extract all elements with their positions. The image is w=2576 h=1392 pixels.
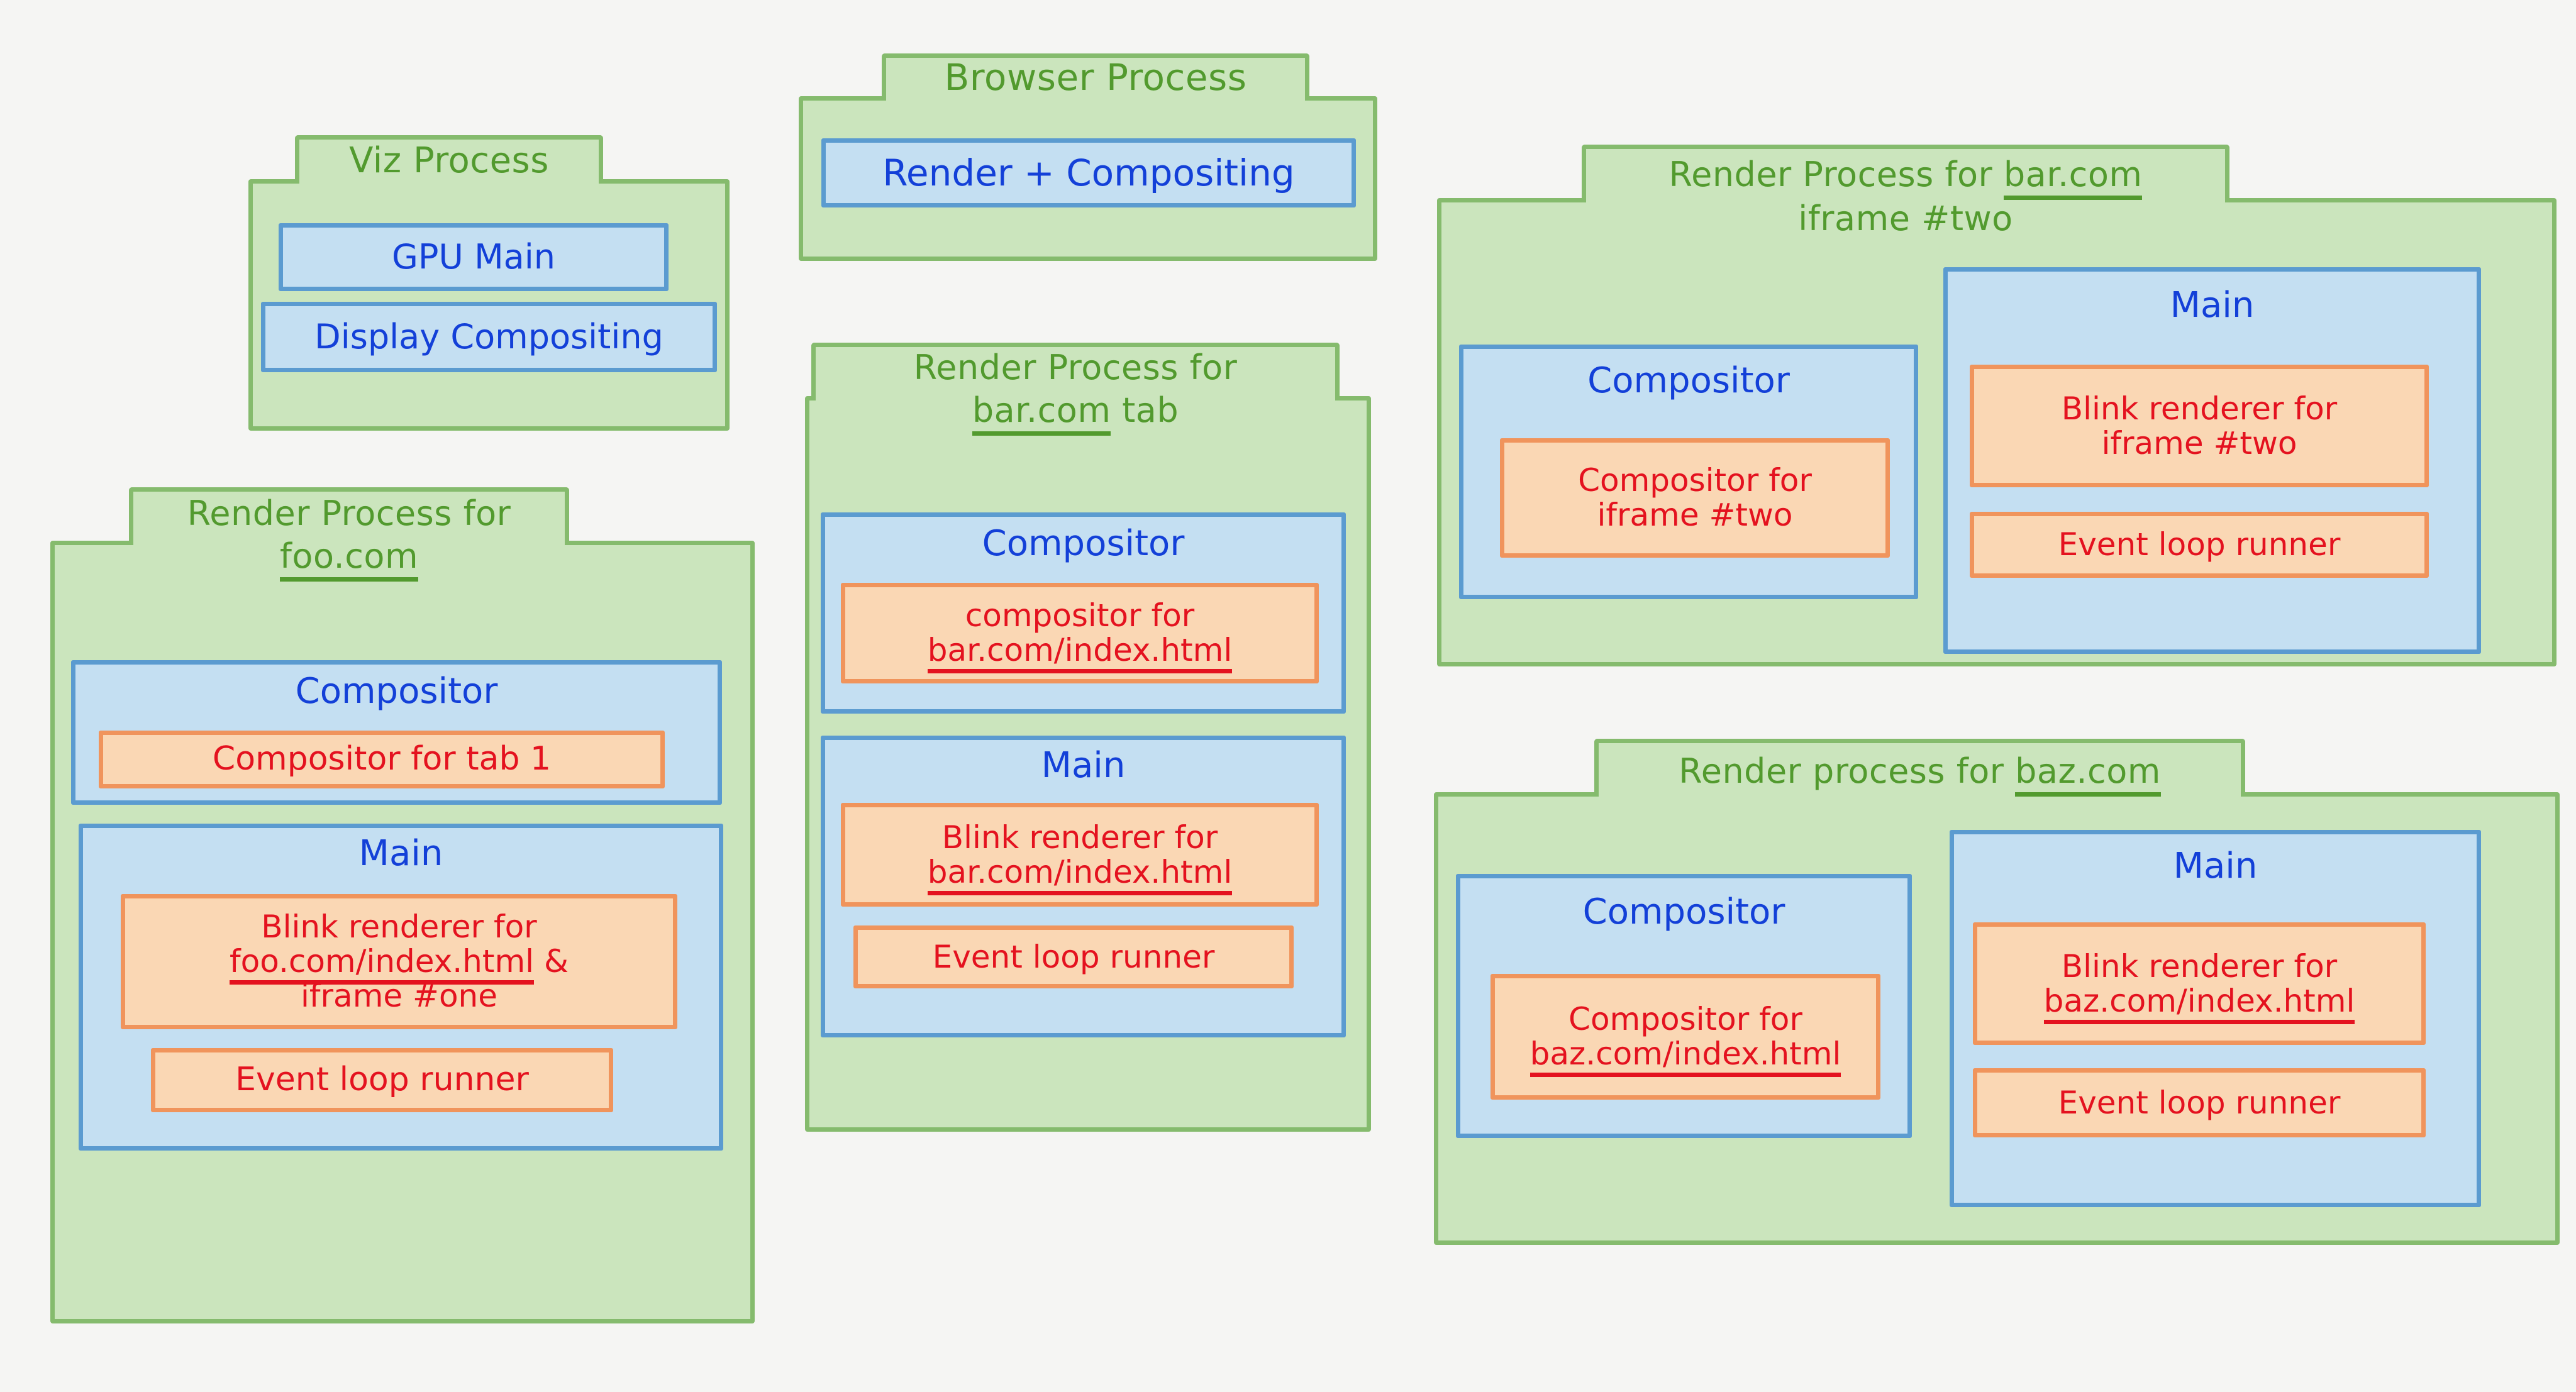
thread-box-compositor-baz: Compositor Compositor for baz.com/index.…: [1456, 874, 1912, 1138]
task-line2-suffix: &: [534, 943, 569, 980]
process-panel-viz: Viz Process GPU Main Display Compositing: [248, 135, 730, 431]
task-box-event-loop-runner-bar: Event loop runner: [853, 925, 1294, 988]
process-panel-render-baz: Render process for baz.com Compositor Co…: [1434, 739, 2560, 1245]
process-title-line1: Render Process for: [75, 495, 623, 533]
task-label-event-loop-runner-foo: Event loop runner: [230, 1062, 534, 1098]
thread-title-compositor-foo: Compositor: [75, 673, 718, 710]
process-title-domain: baz.com: [2015, 751, 2161, 797]
process-title-domain: bar.com: [2004, 155, 2143, 200]
thread-title-gpu-main: GPU Main: [392, 240, 555, 275]
thread-box-display-compositing: Display Compositing: [261, 302, 717, 372]
task-label-event-loop-runner-bar: Event loop runner: [928, 940, 1220, 975]
task-label-blink-renderer-foo: Blink renderer for foo.com/index.html & …: [225, 910, 574, 1014]
thread-box-main-bar: Main Blink renderer for bar.com/index.ht…: [821, 736, 1346, 1037]
thread-title-render-compositing: Render + Compositing: [882, 154, 1295, 192]
process-title-prefix: Render Process for: [1669, 155, 2004, 194]
thread-title-compositor-bar-iframe: Compositor: [1463, 363, 1914, 400]
task-label-compositor-tab1: Compositor for tab 1: [208, 741, 556, 777]
task-box-compositor-baz-index: Compositor for baz.com/index.html: [1491, 974, 1880, 1100]
task-box-event-loop-runner-foo: Event loop runner: [151, 1048, 613, 1112]
process-title-domain: foo.com: [280, 536, 418, 582]
task-line2-url: bar.com/index.html: [928, 854, 1232, 895]
task-label-compositor-iframe-two: Compositor for iframe #two: [1573, 463, 1817, 533]
process-title-line2: iframe #two: [1550, 200, 2261, 238]
thread-box-main-bar-iframe: Main Blink renderer for iframe #two Even…: [1943, 267, 2481, 654]
thread-title-compositor-baz: Compositor: [1460, 894, 1907, 931]
task-line1: Blink renderer for: [2062, 948, 2337, 985]
task-label-blink-renderer-iframe-two: Blink renderer for iframe #two: [2057, 392, 2342, 461]
process-title-domain: bar.com: [972, 390, 1111, 436]
thread-box-compositor-bar-iframe: Compositor Compositor for iframe #two: [1459, 345, 1918, 599]
task-line1: Blink renderer for: [942, 819, 1218, 856]
thread-box-render-compositing: Render + Compositing: [821, 138, 1356, 207]
thread-box-main-baz: Main Blink renderer for baz.com/index.ht…: [1950, 830, 2481, 1207]
thread-title-main-bar: Main: [825, 748, 1341, 785]
task-label-blink-renderer-bar: Blink renderer for bar.com/index.html: [923, 820, 1237, 890]
task-line2-url: baz.com/index.html: [2044, 983, 2355, 1024]
task-box-compositor-iframe-two: Compositor for iframe #two: [1500, 438, 1890, 558]
process-title-suffix: tab: [1111, 390, 1179, 430]
task-box-compositor-tab1: Compositor for tab 1: [99, 731, 665, 788]
task-box-blink-renderer-foo: Blink renderer for foo.com/index.html & …: [121, 894, 677, 1029]
thread-box-compositor-bar: Compositor compositor for bar.com/index.…: [821, 512, 1346, 714]
task-line3: iframe #one: [301, 978, 497, 1014]
task-line2: iframe #two: [1597, 497, 1792, 533]
process-title-render-baz: Render process for baz.com: [1594, 753, 2245, 790]
thread-title-main-baz: Main: [1954, 848, 2477, 885]
task-line1: Blink renderer for: [2062, 390, 2337, 427]
task-label-compositor-baz-index: Compositor for baz.com/index.html: [1525, 1002, 1846, 1071]
task-box-compositor-bar-index: compositor for bar.com/index.html: [841, 583, 1319, 683]
task-line1: Compositor for: [1578, 462, 1812, 499]
process-title-render-bar-tab: Render Process for bar.com tab: [811, 349, 1340, 430]
task-label-compositor-bar-index: compositor for bar.com/index.html: [923, 599, 1237, 668]
task-line2-url: baz.com/index.html: [1530, 1036, 1841, 1077]
task-label-blink-renderer-baz: Blink renderer for baz.com/index.html: [2039, 949, 2360, 1019]
process-title-viz: Viz Process: [295, 141, 603, 181]
thread-title-display-compositing: Display Compositing: [314, 319, 663, 355]
process-title-browser: Browser Process: [882, 57, 1309, 98]
process-title-prefix: Render process for: [1679, 751, 2015, 791]
thread-title-main-bar-iframe: Main: [1948, 287, 2477, 324]
process-panel-browser: Browser Process Render + Compositing: [799, 53, 1377, 261]
task-line1: Blink renderer for: [261, 909, 536, 945]
task-box-blink-renderer-baz: Blink renderer for baz.com/index.html: [1973, 922, 2426, 1045]
thread-box-gpu-main: GPU Main: [279, 223, 669, 291]
task-line1: Compositor for: [1568, 1001, 1802, 1037]
task-line2: iframe #two: [2101, 425, 2297, 461]
thread-box-main-foo: Main Blink renderer for foo.com/index.ht…: [79, 824, 723, 1151]
process-panel-render-foo: Render Process for foo.com Compositor Co…: [50, 487, 755, 1323]
task-box-blink-renderer-bar: Blink renderer for bar.com/index.html: [841, 803, 1319, 907]
thread-title-main-foo: Main: [83, 836, 719, 873]
task-line2-url: bar.com/index.html: [928, 632, 1232, 673]
process-panel-render-bar-iframe: Render Process for bar.com iframe #two C…: [1437, 145, 2557, 666]
task-line1: compositor for: [965, 597, 1194, 634]
process-panel-render-bar-tab: Render Process for bar.com tab Composito…: [805, 343, 1371, 1132]
thread-title-compositor-bar: Compositor: [825, 526, 1341, 563]
task-label-event-loop-runner-baz: Event loop runner: [2053, 1086, 2346, 1120]
task-label-event-loop-runner-iframe-two: Event loop runner: [2053, 528, 2346, 562]
process-title-line1: Render Process for: [811, 349, 1340, 387]
task-box-event-loop-runner-iframe-two: Event loop runner: [1970, 512, 2429, 578]
task-box-blink-renderer-iframe-two: Blink renderer for iframe #two: [1970, 365, 2429, 487]
thread-box-compositor-foo: Compositor Compositor for tab 1: [71, 660, 722, 805]
task-box-event-loop-runner-baz: Event loop runner: [1973, 1068, 2426, 1137]
process-title-render-foo: Render Process for foo.com: [75, 495, 623, 576]
process-title-render-bar-iframe: Render Process for bar.com iframe #two: [1550, 156, 2261, 238]
